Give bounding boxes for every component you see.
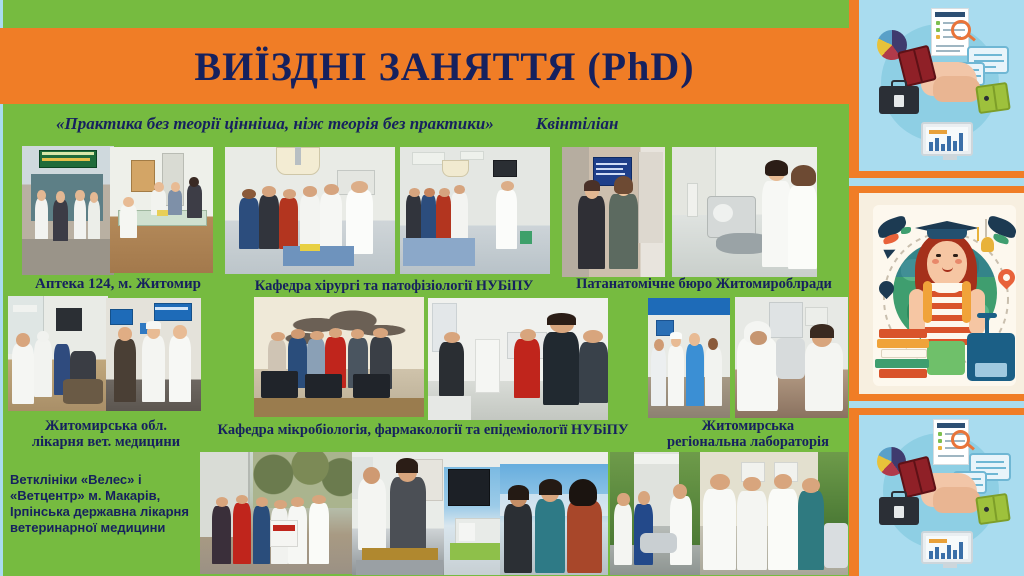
photo-forest-room [610, 452, 703, 575]
book-stack [879, 329, 927, 338]
photo-lab-work [735, 297, 848, 418]
handshake-business-illustration [859, 0, 1024, 171]
quote-row: «Практика без теорії цінніша, ніж теорія… [0, 110, 849, 138]
graduate-student-illustration [859, 193, 1024, 394]
quote-text: «Практика без теорії цінніша, ніж теорія… [56, 114, 494, 134]
quote-author: Квінтіліан [536, 114, 619, 134]
sidebar-card-handshake-top [849, 0, 1024, 178]
photo-patanatomy-lab [672, 147, 817, 277]
caption-reg-lab: Житомирська регіональна лабораторія [648, 418, 848, 450]
lamp-icon [981, 237, 994, 252]
monitor-chart-icon [921, 122, 973, 156]
caption-surgery: Кафедра хірургі та патофізіології НУБіПУ [230, 278, 558, 294]
caption-patanatomy: Патанатомічне бюро Житомироблради [558, 276, 850, 292]
sidebar-card-handshake-bottom [849, 408, 1024, 576]
photo-lab-group [648, 298, 730, 418]
monitor-chart-icon-2 [921, 531, 973, 564]
photo-clinic-table [352, 452, 447, 575]
sidebar-card-student [849, 186, 1024, 401]
sleeve-green [975, 82, 1011, 114]
photo-vet-clinic-inside [8, 296, 108, 411]
caption-vet-hospital: Житомирська обл. лікарня вет. медицини [8, 418, 204, 450]
briefcase-icon-2 [879, 497, 919, 525]
photo-surgery-room-1 [225, 147, 395, 274]
photo-clinic-outside [200, 452, 355, 574]
photo-endoscopy [500, 452, 608, 575]
photo-vet-clinic-staff [106, 298, 201, 411]
sleeve-green-2 [975, 493, 1011, 525]
photo-patanatomy-entrance [562, 147, 665, 277]
caption-apteka: Аптека 124, м. Житомир [20, 276, 216, 293]
photo-ultrasound-group [700, 452, 848, 575]
right-sidebar [849, 0, 1024, 576]
slide-root: ВИЇЗДНІ ЗАНЯТТЯ (PhD) «Практика без теор… [0, 0, 1024, 576]
suitcase-icon [967, 333, 1015, 381]
photo-micro-computers [254, 297, 424, 417]
page-title: ВИЇЗДНІ ЗАНЯТТЯ (PhD) [154, 43, 694, 90]
briefcase-icon [879, 86, 919, 114]
photo-surgery-room-2 [400, 147, 550, 274]
photo-micro-equipment [428, 298, 608, 420]
title-band: ВИЇЗДНІ ЗАНЯТТЯ (PhD) [0, 28, 849, 104]
handshake-business-illustration-2 [859, 415, 1024, 576]
photo-pharmacy-lab [110, 147, 213, 273]
photo-pharmacy-entrance [22, 146, 114, 275]
caption-vetclinics: Ветклініки «Велес» і «Ветцентр» м. Макар… [10, 472, 200, 535]
caption-microbiology: Кафедра мікробіологія, фармакології та е… [198, 422, 648, 438]
